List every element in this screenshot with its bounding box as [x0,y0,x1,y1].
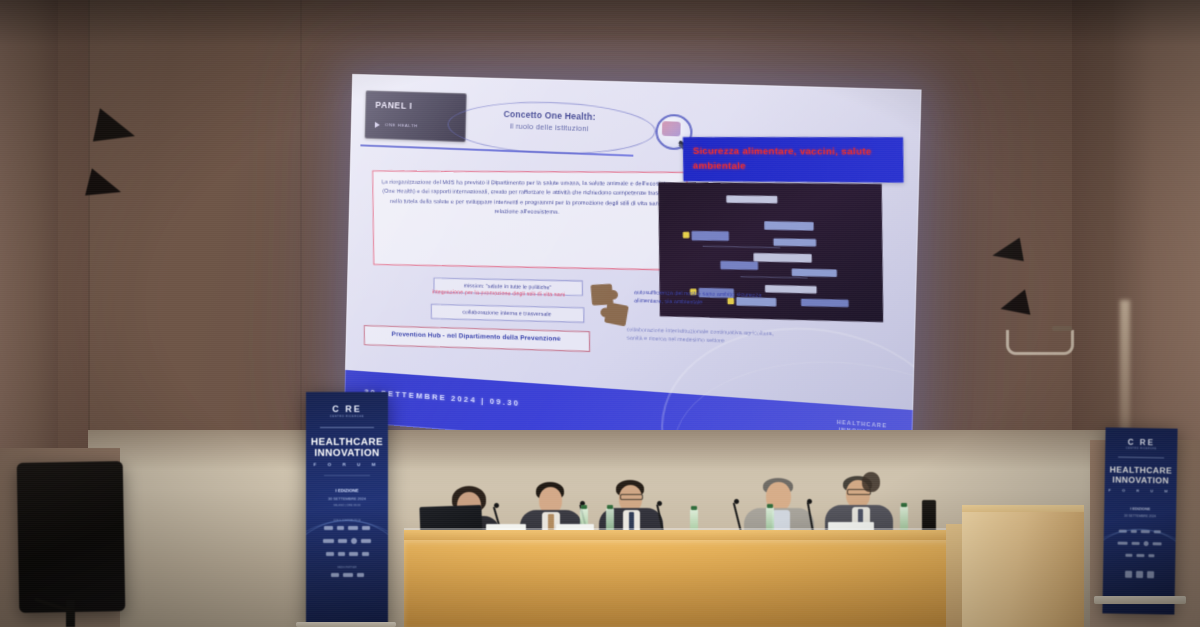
stage-light-upper-left-icon [96,112,136,146]
bottle-cap [581,505,587,509]
banner-place: MILANO | ORE 09.00 [306,503,388,507]
stage-light-lower-right-icon [1000,292,1028,318]
banner-edition: I EDIZIONE [306,488,388,493]
bottle-cap [767,504,773,508]
wooden-lectern [962,512,1084,627]
microphone-head [734,499,739,504]
projection-screen: PANEL I ONE HEALTH Concetto One Health: … [344,74,922,466]
banner-headline-2: INNOVATION [306,448,388,459]
bottle-cap [607,505,613,509]
speaker-stand-pole [66,600,75,627]
lower-wall-shadow [88,430,1112,470]
light-mount-bracket [1006,330,1074,355]
rollup-banner-right: C RE CENTRO RICERCHE HEALTHCARE INNOVATI… [1102,427,1177,614]
microphone-head [657,501,662,506]
stage-light-upper-right-icon [992,240,1022,264]
pa-loudspeaker [17,461,126,613]
conference-room-photo: PANEL I ONE HEALTH Concetto One Health: … [0,0,1200,627]
banner-date: 30 SETTEMBRE 2024 [306,497,388,501]
banner-headline-1: HEALTHCARE [306,437,388,448]
banner-base-left [296,622,396,627]
banner-core-logo: C RE [306,404,388,414]
bottle-cap [901,503,907,507]
light-mount-arm [1052,326,1072,331]
banner-forum-word: F O R U M [306,462,388,467]
banner-base-right [1094,596,1186,604]
panel-table [404,540,984,627]
microphone-head [494,503,499,508]
stage-light-lower-left-icon [88,172,122,200]
microphone-head [807,499,812,504]
bottle-cap [691,506,697,510]
rollup-banner-left: C RE CENTRO RICERCHE HEALTHCARE INNOVATI… [306,392,388,627]
